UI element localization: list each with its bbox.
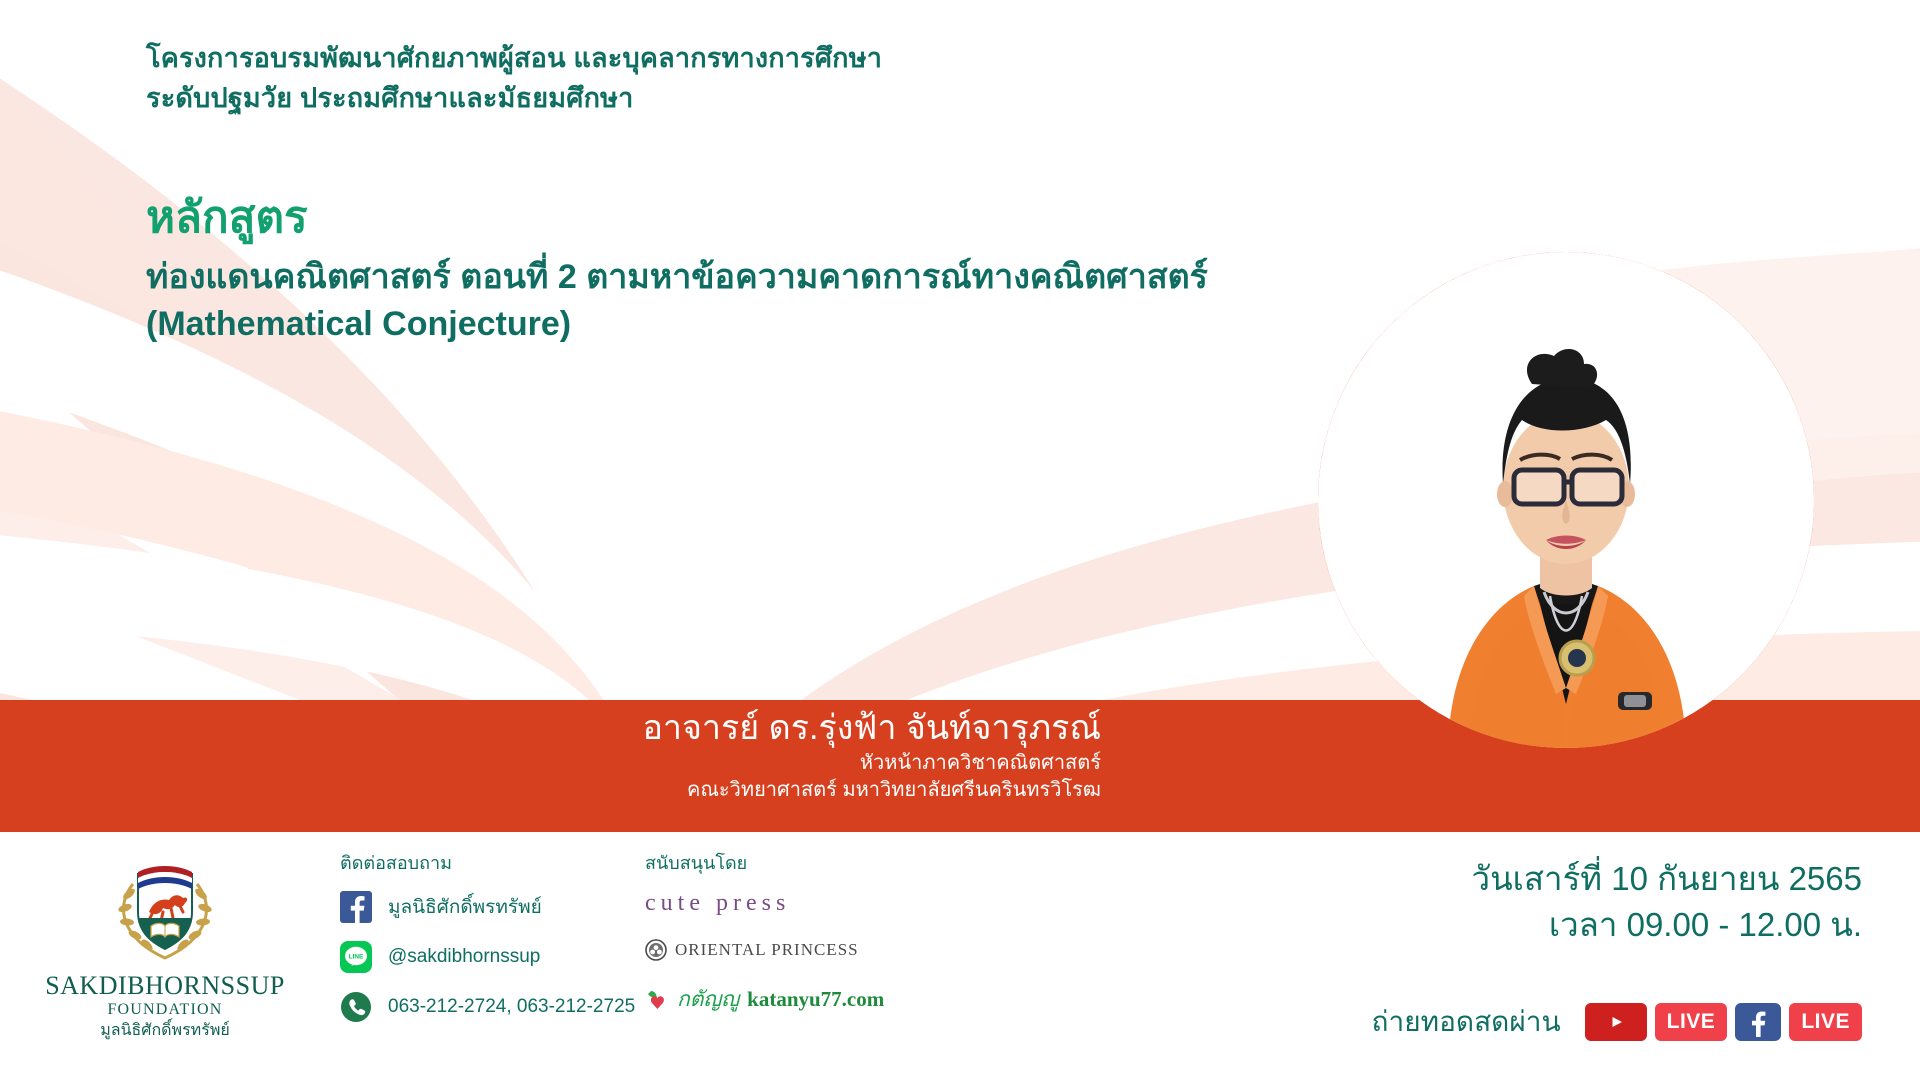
- program-header-line-2: ระดับปฐมวัย ประถมศึกษาและมัธยมศึกษา: [146, 78, 882, 118]
- contact-phone[interactable]: 063-212-2724, 063-212-2725: [340, 986, 630, 1028]
- speaker-name: อาจารย์ ดร.รุ่งฟ้า จันท์จารุภรณ์: [341, 706, 1101, 750]
- foundation-name: SAKDIBHORNSSUP: [40, 972, 290, 1000]
- facebook-live-badge[interactable]: LIVE: [1789, 1003, 1862, 1041]
- speaker-organization: คณะวิทยาศาสตร์ มหาวิทยาลัยศรีนครินทรวิโร…: [341, 777, 1101, 804]
- oriental-princess-label: ORIENTAL PRINCESS: [675, 940, 859, 960]
- contact-phone-label: 063-212-2724, 063-212-2725: [388, 996, 635, 1018]
- oriental-princess-logo[interactable]: ORIENTAL PRINCESS: [645, 939, 945, 961]
- portrait-clip: [1318, 252, 1814, 748]
- speaker-portrait: [1318, 252, 1814, 748]
- contact-facebook-label: มูลนิธิศักดิ์พรทรัพย์: [388, 892, 542, 922]
- facebook-f-glyph: [1746, 1007, 1770, 1037]
- contact-line[interactable]: LINE @sakdibhornssup: [340, 936, 630, 978]
- foundation-logo: SAKDIBHORNSSUP FOUNDATION มูลนิธิศักดิ์พ…: [40, 850, 290, 1042]
- program-header: โครงการอบรมพัฒนาศักยภาพผู้สอน และบุคลากร…: [146, 38, 882, 118]
- contact-heading: ติดต่อสอบถาม: [340, 852, 630, 874]
- sponsor-column: สนับสนุนโดย cute press ORIENTAL PRINCESS: [645, 852, 945, 1016]
- katanyu-url[interactable]: katanyu77.com: [747, 987, 884, 1012]
- katanyu-heart-icon: [645, 988, 671, 1012]
- youtube-play-glyph: [1599, 1010, 1633, 1034]
- contact-line-label: @sakdibhornssup: [388, 946, 540, 968]
- footer: SAKDIBHORNSSUP FOUNDATION มูลนิธิศักดิ์พ…: [0, 832, 1920, 1080]
- program-header-line-1: โครงการอบรมพัฒนาศักยภาพผู้สอน และบุคลากร…: [146, 38, 882, 78]
- youtube-live-badge[interactable]: LIVE: [1655, 1003, 1728, 1041]
- broadcast-row: ถ่ายทอดสดผ่าน LIVE LIVE: [1372, 1000, 1862, 1044]
- course-label: หลักสูตร: [146, 190, 1208, 246]
- course-title-thai: ท่องแดนคณิตศาสตร์ ตอนที่ 2 ตามหาข้อความค…: [146, 254, 1208, 301]
- speaker-photo-illustration: [1318, 252, 1814, 748]
- speaker-role: หัวหน้าภาควิชาคณิตศาสตร์: [341, 750, 1101, 777]
- facebook-icon[interactable]: [1735, 1003, 1781, 1041]
- facebook-icon[interactable]: [340, 891, 372, 923]
- foundation-thai-name: มูลนิธิศักดิ์พรทรัพย์: [40, 1020, 290, 1042]
- broadcast-label: ถ่ายทอดสดผ่าน: [1372, 1000, 1561, 1044]
- schedule-block: วันเสาร์ที่ 10 กันยายน 2565 เวลา 09.00 -…: [1472, 856, 1862, 948]
- sponsor-heading: สนับสนุนโดย: [645, 852, 945, 874]
- contact-facebook[interactable]: มูลนิธิศักดิ์พรทรัพย์: [340, 886, 630, 928]
- foundation-sub: FOUNDATION: [40, 1000, 290, 1020]
- contact-column: ติดต่อสอบถาม มูลนิธิศักดิ์พรทรัพย์ LINE …: [340, 852, 630, 1036]
- horse-crest-icon: [105, 850, 225, 970]
- youtube-icon[interactable]: [1585, 1003, 1647, 1041]
- katanyu-sponsor[interactable]: กตัญญู katanyu77.com: [645, 983, 945, 1016]
- phone-icon[interactable]: [340, 991, 372, 1023]
- schedule-date: วันเสาร์ที่ 10 กันยายน 2565: [1472, 856, 1862, 902]
- schedule-time: เวลา 09.00 - 12.00 น.: [1472, 902, 1862, 948]
- speaker-info: อาจารย์ ดร.รุ่งฟ้า จันท์จารุภรณ์ หัวหน้า…: [341, 706, 1101, 804]
- course-block: หลักสูตร ท่องแดนคณิตศาสตร์ ตอนที่ 2 ตามห…: [146, 190, 1208, 348]
- poster-canvas: โครงการอบรมพัฒนาศักยภาพผู้สอน และบุคลากร…: [0, 0, 1920, 1080]
- course-title-english: (Mathematical Conjecture): [146, 301, 1208, 348]
- katanyu-thai-label: กตัญญู: [677, 983, 739, 1016]
- oriental-princess-icon: [645, 939, 667, 961]
- line-icon[interactable]: LINE: [340, 941, 372, 973]
- cute-press-logo[interactable]: cute press: [645, 890, 945, 917]
- svg-text:LINE: LINE: [349, 954, 364, 961]
